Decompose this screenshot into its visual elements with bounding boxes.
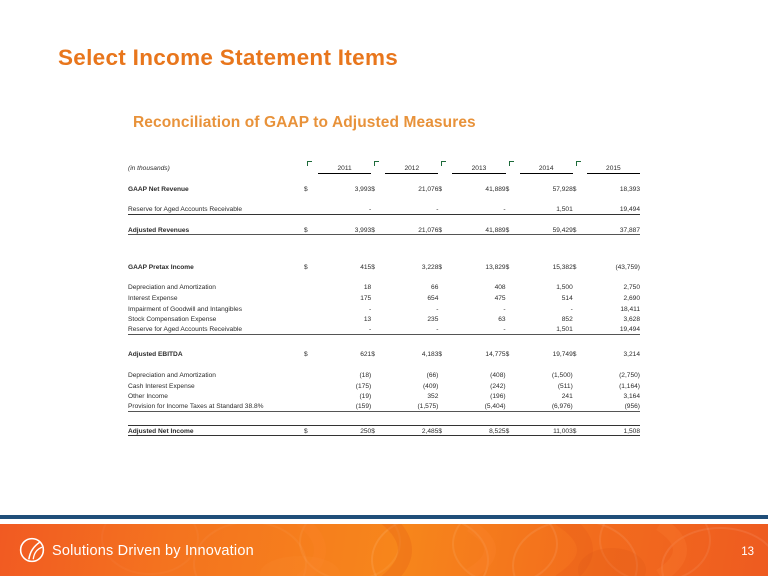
currency-spacer (506, 281, 520, 292)
cell-value: 19,749 (520, 348, 573, 359)
currency-symbol: $ (371, 183, 385, 194)
spacer (128, 271, 640, 281)
currency-spacer (371, 369, 385, 380)
tick-mark-2015 (573, 160, 587, 173)
row-label: Adjusted Revenues (128, 224, 304, 235)
currency-spacer (506, 204, 520, 215)
currency-spacer (573, 281, 587, 292)
table-header-row: (in thousands) 2011 2012 2013 2014 2015 (128, 160, 640, 173)
currency-spacer (573, 369, 587, 380)
currency-symbol: $ (506, 261, 520, 272)
cell-value: - (385, 303, 438, 314)
currency-spacer (438, 401, 452, 412)
table-row: Cash Interest Expense (175) (409) (242) … (128, 380, 640, 391)
table-row: Adjusted EBITDA $ 621 $ 4,183 $ 14,775 $… (128, 348, 640, 359)
cell-value: - (318, 324, 371, 335)
currency-spacer (438, 313, 452, 324)
currency-spacer (573, 401, 587, 412)
currency-symbol: $ (438, 348, 452, 359)
currency-symbol: $ (438, 183, 452, 194)
table-row: Depreciation and Amortization 18 66 408 … (128, 281, 640, 292)
cell-value: (175) (318, 380, 371, 391)
spacer (128, 194, 640, 204)
cell-value: 15,382 (520, 261, 573, 272)
currency-spacer (304, 390, 318, 401)
cell-value: (159) (318, 401, 371, 412)
column-header-2011: 2011 (318, 160, 371, 173)
cell-value: 19,494 (587, 204, 640, 215)
cell-value: 241 (520, 390, 573, 401)
row-label: Adjusted Net Income (128, 425, 304, 436)
currency-symbol: $ (573, 261, 587, 272)
table-row: Depreciation and Amortization (18) (66) … (128, 369, 640, 380)
cell-value: (242) (452, 380, 505, 391)
cell-value: 514 (520, 292, 573, 303)
cell-value: (19) (318, 390, 371, 401)
currency-spacer (371, 324, 385, 335)
cell-value: 11,003 (520, 425, 573, 436)
cell-value: (409) (385, 380, 438, 391)
currency-symbol: $ (438, 425, 452, 436)
row-label: Reserve for Aged Accounts Receivable (128, 324, 304, 335)
currency-symbol: $ (573, 348, 587, 359)
currency-spacer (573, 313, 587, 324)
currency-spacer (506, 313, 520, 324)
currency-spacer (438, 204, 452, 215)
currency-spacer (438, 303, 452, 314)
cell-value: 654 (385, 292, 438, 303)
cell-value: 21,076 (385, 183, 438, 194)
column-header-2014: 2014 (520, 160, 573, 173)
currency-spacer (304, 401, 318, 412)
cell-value: (1,575) (385, 401, 438, 412)
currency-spacer (304, 281, 318, 292)
cell-value: - (385, 324, 438, 335)
slide: Select Income Statement Items Reconcilia… (0, 0, 768, 576)
currency-spacer (304, 369, 318, 380)
column-header-2012: 2012 (385, 160, 438, 173)
table-row: Provision for Income Taxes at Standard 3… (128, 401, 640, 412)
currency-spacer (438, 390, 452, 401)
cell-value: 3,164 (587, 390, 640, 401)
currency-symbol: $ (573, 183, 587, 194)
cell-value: 852 (520, 313, 573, 324)
page-title: Select Income Statement Items (58, 45, 398, 71)
cell-value: (6,976) (520, 401, 573, 412)
table-row: GAAP Net Revenue $ 3,993 $ 21,076 $ 41,8… (128, 183, 640, 194)
row-label: Depreciation and Amortization (128, 281, 304, 292)
spacer (128, 214, 640, 224)
currency-spacer (304, 204, 318, 215)
spacer (128, 334, 640, 348)
spacer (128, 235, 640, 261)
reconciliation-table: (in thousands) 2011 2012 2013 2014 2015 … (128, 160, 640, 436)
units-label: (in thousands) (128, 160, 304, 173)
row-label: Depreciation and Amortization (128, 369, 304, 380)
cell-value: 3,993 (318, 224, 371, 235)
cell-value: 1,500 (520, 281, 573, 292)
cell-value: 2,690 (587, 292, 640, 303)
cell-value: 175 (318, 292, 371, 303)
table-row: Adjusted Net Income $ 250 $ 2,485 $ 8,52… (128, 425, 640, 436)
currency-spacer (573, 390, 587, 401)
currency-symbol: $ (371, 261, 385, 272)
currency-symbol: $ (506, 425, 520, 436)
currency-spacer (304, 292, 318, 303)
currency-spacer (438, 292, 452, 303)
spacer (128, 411, 640, 425)
page-subtitle: Reconciliation of GAAP to Adjusted Measu… (133, 114, 476, 132)
cell-value: 1,508 (587, 425, 640, 436)
cell-value: (1,164) (587, 380, 640, 391)
row-label: Adjusted EBITDA (128, 348, 304, 359)
currency-symbol: $ (506, 183, 520, 194)
cell-value: (43,759) (587, 261, 640, 272)
slide-footer: Solutions Driven by Innovation 13 (0, 524, 768, 576)
column-header-2013: 2013 (452, 160, 505, 173)
currency-symbol: $ (304, 348, 318, 359)
currency-symbol: $ (371, 224, 385, 235)
table-row: Interest Expense 175 654 475 514 2,690 (128, 292, 640, 303)
row-label: Other Income (128, 390, 304, 401)
table-row: Reserve for Aged Accounts Receivable - -… (128, 324, 640, 335)
cell-value: 2,485 (385, 425, 438, 436)
cell-value: - (452, 204, 505, 215)
cell-value: 352 (385, 390, 438, 401)
cell-value: (18) (318, 369, 371, 380)
cell-value: (956) (587, 401, 640, 412)
currency-spacer (438, 281, 452, 292)
currency-spacer (438, 380, 452, 391)
row-label: Interest Expense (128, 292, 304, 303)
currency-spacer (506, 401, 520, 412)
currency-spacer (506, 303, 520, 314)
currency-spacer (371, 292, 385, 303)
spacer (128, 359, 640, 369)
currency-spacer (304, 303, 318, 314)
cell-value: 37,887 (587, 224, 640, 235)
currency-spacer (573, 303, 587, 314)
footer-divider-rule (0, 515, 768, 519)
currency-symbol: $ (371, 425, 385, 436)
cell-value: (66) (385, 369, 438, 380)
row-label: Provision for Income Taxes at Standard 3… (128, 401, 304, 412)
cell-value: 235 (385, 313, 438, 324)
currency-spacer (438, 369, 452, 380)
page-number: 13 (741, 546, 754, 558)
cell-value: 63 (452, 313, 505, 324)
cell-value: 41,889 (452, 224, 505, 235)
company-logo-icon (18, 536, 46, 564)
cell-value: 21,076 (385, 224, 438, 235)
row-label: Reserve for Aged Accounts Receivable (128, 204, 304, 215)
currency-spacer (371, 313, 385, 324)
currency-symbol: $ (438, 261, 452, 272)
cell-value: 3,228 (385, 261, 438, 272)
tick-mark-2011 (304, 160, 318, 173)
cell-value: 415 (318, 261, 371, 272)
cell-value: (5,404) (452, 401, 505, 412)
column-header-2015: 2015 (587, 160, 640, 173)
table-row: Adjusted Revenues $ 3,993 $ 21,076 $ 41,… (128, 224, 640, 235)
currency-spacer (573, 292, 587, 303)
cell-value: 41,889 (452, 183, 505, 194)
currency-spacer (506, 380, 520, 391)
cell-value: 408 (452, 281, 505, 292)
currency-symbol: $ (371, 348, 385, 359)
tick-mark-2013 (438, 160, 452, 173)
currency-symbol: $ (506, 224, 520, 235)
cell-value: - (452, 303, 505, 314)
currency-symbol: $ (304, 425, 318, 436)
currency-symbol: $ (573, 425, 587, 436)
cell-value: 475 (452, 292, 505, 303)
currency-spacer (506, 324, 520, 335)
row-label: Stock Compensation Expense (128, 313, 304, 324)
currency-spacer (506, 369, 520, 380)
cell-value: - (318, 303, 371, 314)
cell-value: 18 (318, 281, 371, 292)
row-label: Cash Interest Expense (128, 380, 304, 391)
cell-value: (1,500) (520, 369, 573, 380)
cell-value: - (452, 324, 505, 335)
currency-spacer (506, 390, 520, 401)
cell-value: 19,494 (587, 324, 640, 335)
currency-spacer (304, 313, 318, 324)
tick-mark-2012 (371, 160, 385, 173)
currency-symbol: $ (506, 348, 520, 359)
currency-spacer (304, 324, 318, 335)
cell-value: 2,750 (587, 281, 640, 292)
cell-value: 13 (318, 313, 371, 324)
currency-spacer (371, 204, 385, 215)
table-row: Impairment of Goodwill and Intangibles -… (128, 303, 640, 314)
currency-symbol: $ (304, 224, 318, 235)
currency-symbol: $ (438, 224, 452, 235)
cell-value: 1,501 (520, 204, 573, 215)
cell-value: 3,993 (318, 183, 371, 194)
table-row: Reserve for Aged Accounts Receivable - -… (128, 204, 640, 215)
row-label: Impairment of Goodwill and Intangibles (128, 303, 304, 314)
cell-value: (511) (520, 380, 573, 391)
currency-symbol: $ (304, 183, 318, 194)
table-row: GAAP Pretax Income $ 415 $ 3,228 $ 13,82… (128, 261, 640, 272)
currency-spacer (371, 390, 385, 401)
cell-value: 18,411 (587, 303, 640, 314)
cell-value: 4,183 (385, 348, 438, 359)
cell-value: 59,429 (520, 224, 573, 235)
financial-table-container: (in thousands) 2011 2012 2013 2014 2015 … (128, 160, 640, 436)
cell-value: (196) (452, 390, 505, 401)
currency-spacer (371, 401, 385, 412)
cell-value: 3,214 (587, 348, 640, 359)
cell-value: (2,750) (587, 369, 640, 380)
currency-spacer (506, 292, 520, 303)
currency-spacer (371, 281, 385, 292)
table-row: Other Income (19) 352 (196) 241 3,164 (128, 390, 640, 401)
currency-spacer (573, 380, 587, 391)
cell-value: 18,393 (587, 183, 640, 194)
table-row: Stock Compensation Expense 13 235 63 852… (128, 313, 640, 324)
cell-value: 57,928 (520, 183, 573, 194)
currency-spacer (304, 380, 318, 391)
currency-symbol: $ (304, 261, 318, 272)
currency-spacer (371, 380, 385, 391)
currency-spacer (573, 324, 587, 335)
currency-spacer (573, 204, 587, 215)
footer-tagline: Solutions Driven by Innovation (52, 543, 254, 559)
cell-value: - (385, 204, 438, 215)
cell-value: - (318, 204, 371, 215)
row-label: GAAP Net Revenue (128, 183, 304, 194)
currency-spacer (371, 303, 385, 314)
cell-value: 250 (318, 425, 371, 436)
cell-value: 1,501 (520, 324, 573, 335)
cell-value: 8,525 (452, 425, 505, 436)
currency-symbol: $ (573, 224, 587, 235)
cell-value: - (520, 303, 573, 314)
cell-value: 3,628 (587, 313, 640, 324)
cell-value: 14,775 (452, 348, 505, 359)
currency-spacer (438, 324, 452, 335)
cell-value: 13,829 (452, 261, 505, 272)
cell-value: 66 (385, 281, 438, 292)
row-label: GAAP Pretax Income (128, 261, 304, 272)
cell-value: 621 (318, 348, 371, 359)
tick-mark-2014 (506, 160, 520, 173)
spacer (128, 173, 640, 183)
cell-value: (408) (452, 369, 505, 380)
